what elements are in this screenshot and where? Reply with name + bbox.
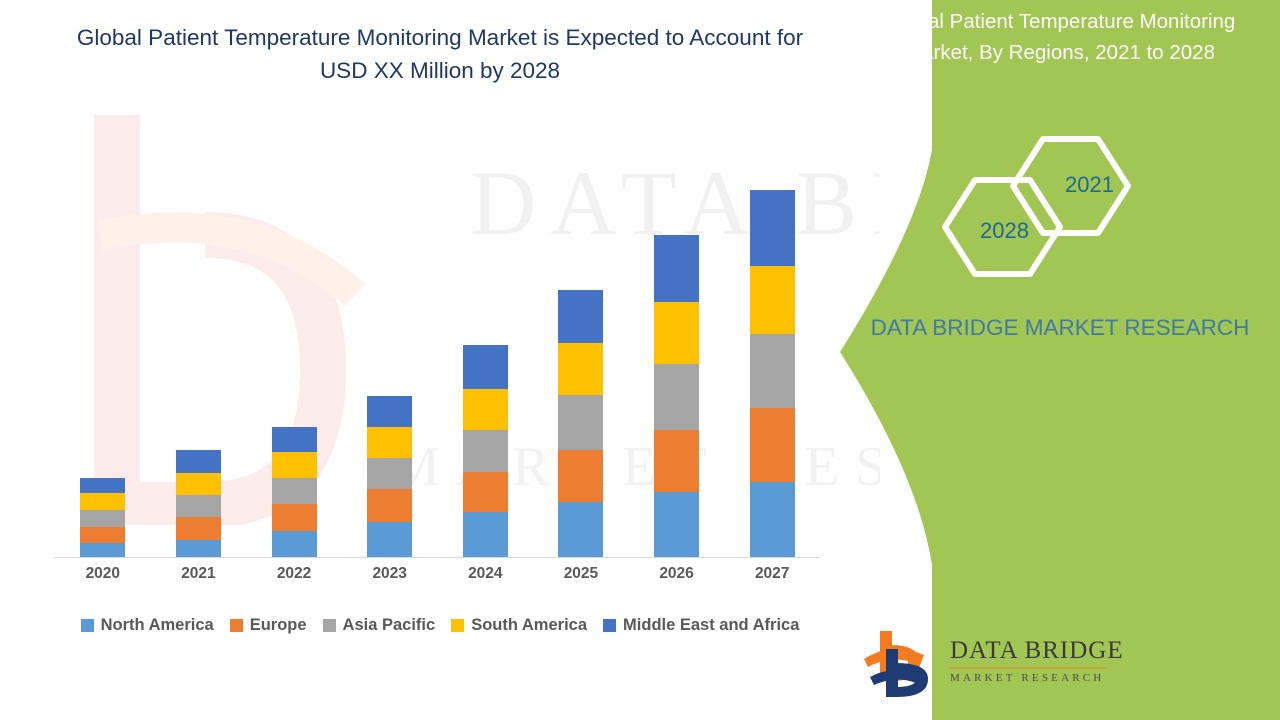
- hexagon-group: 2021 2028: [935, 132, 1165, 282]
- bar-segment: [80, 527, 125, 543]
- bar-segment: [750, 266, 795, 334]
- legend-item[interactable]: Europe: [230, 616, 307, 635]
- legend-label: Europe: [250, 616, 307, 635]
- bar-segment: [80, 510, 125, 527]
- bar-2025: [558, 290, 603, 557]
- bar-segment: [80, 543, 125, 557]
- bar-segment: [176, 540, 221, 557]
- x-axis-label-2027: 2027: [727, 565, 817, 583]
- logo-text-primary: DATA BRIDGE: [950, 637, 1110, 665]
- bar-2021: [176, 450, 221, 557]
- bar-segment: [558, 343, 603, 395]
- chart-plot-area: [55, 150, 820, 558]
- bar-segment: [80, 493, 125, 510]
- bar-segment: [750, 482, 795, 557]
- chart-legend: North AmericaEuropeAsia PacificSouth Ame…: [55, 616, 825, 635]
- bar-segment: [272, 427, 317, 452]
- green-panel-shape: [840, 0, 1280, 720]
- legend-label: North America: [101, 616, 214, 635]
- bar-segment: [272, 452, 317, 478]
- bar-segment: [654, 430, 699, 492]
- bar-segment: [463, 345, 508, 389]
- x-axis-line: [55, 557, 820, 558]
- logo-divider: [950, 667, 1106, 669]
- legend-label: South America: [471, 616, 587, 635]
- bar-segment: [272, 478, 317, 504]
- bar-segment: [367, 396, 412, 427]
- bar-segment: [367, 522, 412, 557]
- bar-segment: [558, 395, 603, 450]
- company-logo: DATA BRIDGE MARKET RESEARCH: [858, 625, 1098, 705]
- bar-segment: [558, 290, 603, 343]
- bar-segment: [654, 492, 699, 557]
- bar-segment: [463, 389, 508, 430]
- bar-segment: [367, 489, 412, 522]
- legend-swatch-icon: [323, 619, 336, 632]
- legend-item[interactable]: South America: [451, 616, 587, 635]
- bar-segment: [80, 478, 125, 493]
- bar-segment: [272, 531, 317, 557]
- company-logo-wordmark: DATA BRIDGE MARKET RESEARCH: [950, 637, 1110, 684]
- panel-brand-name: DATA BRIDGE MARKET RESEARCH: [860, 312, 1260, 344]
- x-axis-label-2025: 2025: [536, 565, 626, 583]
- bar-2020: [80, 478, 125, 557]
- bar-segment: [750, 190, 795, 266]
- bar-segment: [176, 473, 221, 495]
- x-axis-label-2021: 2021: [153, 565, 243, 583]
- legend-item[interactable]: Asia Pacific: [323, 616, 436, 635]
- bar-segment: [558, 450, 603, 502]
- bar-segment: [654, 235, 699, 302]
- infographic-page: DATA BRIDGE MARKET RESEARCH Global Patie…: [0, 0, 1280, 720]
- bar-segment: [558, 502, 603, 557]
- logo-text-secondary: MARKET RESEARCH: [950, 672, 1110, 684]
- chart-title: Global Patient Temperature Monitoring Ma…: [60, 22, 820, 87]
- bar-segment: [654, 364, 699, 430]
- bar-segment: [367, 458, 412, 489]
- panel-title: Global Patient Temperature Monitoring Ma…: [875, 6, 1245, 68]
- bar-segment: [750, 408, 795, 482]
- bar-segment: [463, 472, 508, 512]
- legend-item[interactable]: Middle East and Africa: [603, 616, 799, 635]
- legend-item[interactable]: North America: [81, 616, 214, 635]
- right-green-panel: Global Patient Temperature Monitoring Ma…: [840, 0, 1280, 720]
- legend-swatch-icon: [230, 619, 243, 632]
- bar-2023: [367, 396, 412, 557]
- bar-segment: [176, 517, 221, 540]
- bar-segment: [176, 450, 221, 473]
- hexagon-year-end: 2028: [980, 218, 1029, 244]
- x-axis-label-2024: 2024: [440, 565, 530, 583]
- hexagon-year-start: 2021: [1065, 172, 1114, 198]
- bar-segment: [272, 504, 317, 531]
- legend-swatch-icon: [81, 619, 94, 632]
- data-bridge-logo-icon: [858, 625, 942, 703]
- bar-segment: [176, 495, 221, 517]
- bar-2027: [750, 190, 795, 557]
- x-axis-label-2020: 2020: [58, 565, 148, 583]
- bar-2024: [463, 345, 508, 557]
- bar-segment: [654, 302, 699, 364]
- legend-swatch-icon: [451, 619, 464, 632]
- legend-label: Asia Pacific: [343, 616, 436, 635]
- bar-segment: [750, 334, 795, 408]
- bar-segment: [463, 512, 508, 557]
- x-axis-label-2026: 2026: [632, 565, 722, 583]
- x-axis-label-2022: 2022: [249, 565, 339, 583]
- bar-2026: [654, 235, 699, 557]
- legend-swatch-icon: [603, 619, 616, 632]
- bar-segment: [463, 430, 508, 472]
- x-axis-label-2023: 2023: [345, 565, 435, 583]
- bar-2022: [272, 427, 317, 557]
- legend-label: Middle East and Africa: [623, 616, 799, 635]
- x-axis-tick-labels: 20202021202220232024202520262027: [55, 565, 820, 591]
- hexagon-outlines-icon: [935, 132, 1165, 282]
- bar-segment: [367, 427, 412, 458]
